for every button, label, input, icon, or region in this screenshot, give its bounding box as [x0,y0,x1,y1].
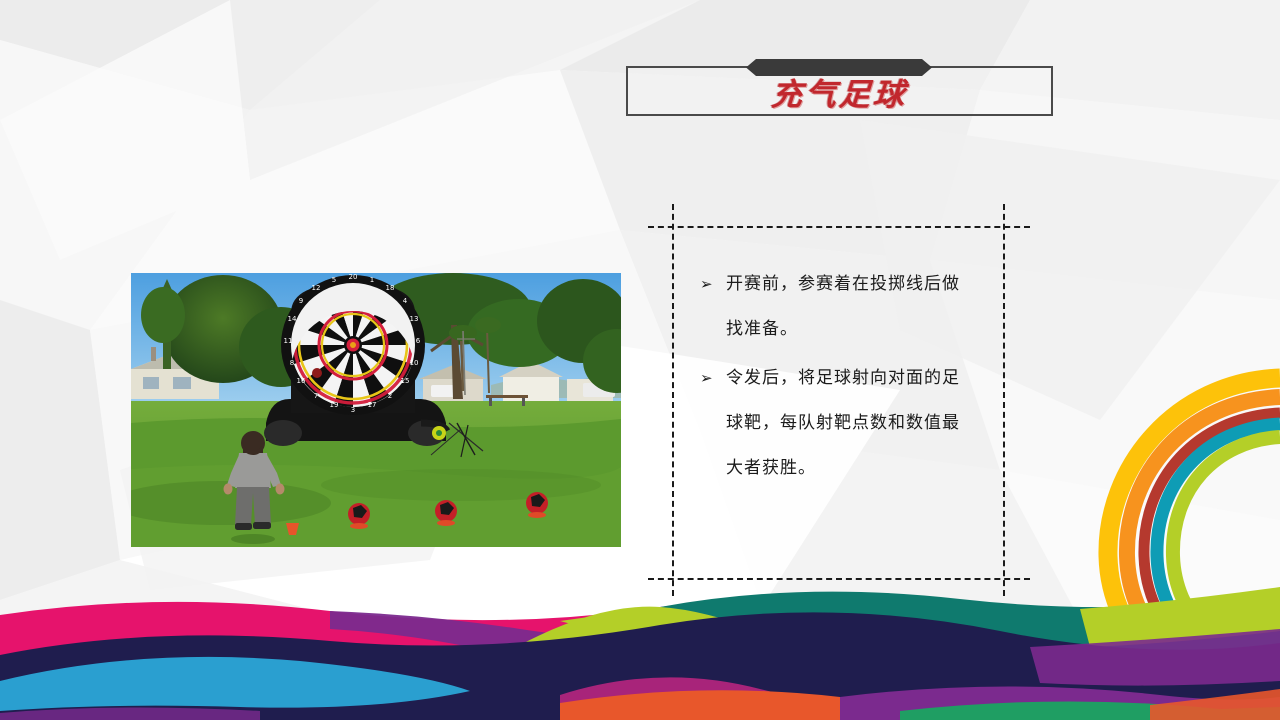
list-item: ➢ 开赛前，参赛着在投掷线后做找准备。 [700,262,968,352]
frame-dash-left [672,204,674,596]
svg-text:15: 15 [401,377,410,385]
svg-text:2: 2 [388,392,392,400]
frame-dash-right [1003,204,1005,596]
svg-text:4: 4 [403,297,408,305]
svg-text:3: 3 [351,406,355,414]
svg-text:7: 7 [314,392,318,400]
svg-text:9: 9 [299,297,303,305]
slide-canvas: 20118 4136 10152 17319 7168 11149 125 [0,0,1280,720]
svg-text:18: 18 [386,284,395,292]
inflatable-soccer-dartboard-photo: 20118 4136 10152 17319 7168 11149 125 [131,273,621,547]
list-item: ➢ 令发后，将足球射向对面的足球靶，每队射靶点数和数值最大者获胜。 [700,356,968,491]
svg-text:13: 13 [410,315,419,323]
list-item-text: 令发后，将足球射向对面的足球靶，每队射靶点数和数值最大者获胜。 [726,356,968,491]
svg-text:12: 12 [312,284,321,292]
svg-text:16: 16 [297,377,306,385]
frame-dash-top [648,226,1030,228]
svg-text:5: 5 [332,276,336,284]
bullet-list: ➢ 开赛前，参赛着在投掷线后做找准备。 ➢ 令发后，将足球射向对面的足球靶，每队… [700,262,968,495]
svg-text:17: 17 [368,401,377,409]
frame-dash-bottom [648,578,1030,580]
svg-text:20: 20 [349,273,358,281]
arrow-bullet-icon: ➢ [700,262,726,307]
svg-text:11: 11 [284,337,293,345]
svg-text:6: 6 [416,337,421,345]
svg-text:19: 19 [330,401,339,409]
svg-text:8: 8 [290,359,294,367]
svg-text:10: 10 [410,359,419,367]
arrow-bullet-icon: ➢ [700,356,726,401]
svg-text:14: 14 [288,315,297,323]
svg-text:1: 1 [370,276,374,284]
title-ribbon-banner [746,59,932,76]
list-item-text: 开赛前，参赛着在投掷线后做找准备。 [726,262,968,352]
bottom-wave-decoration [0,585,1280,720]
